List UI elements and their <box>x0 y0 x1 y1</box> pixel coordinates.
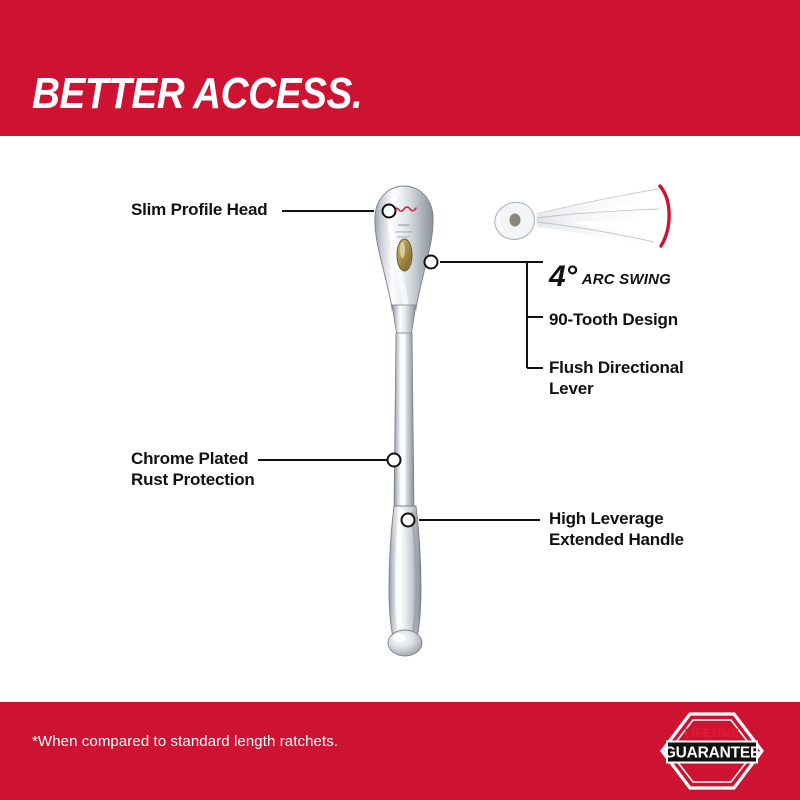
ratchet-neck <box>392 305 416 336</box>
arc-swing-degrees: 4° <box>549 260 577 293</box>
callout-label-high-leverage: High Leverage Extended Handle <box>549 508 684 550</box>
ratchet-tool-illustration <box>375 186 433 656</box>
handle-end-cap <box>388 630 422 656</box>
handle-end-cap-highlight <box>393 634 405 643</box>
callout-label-flush-lever: Flush Directional Lever <box>549 357 684 399</box>
arc-swing-red-arc <box>660 186 669 246</box>
callout-label-arc-swing: 4°ARC SWING <box>549 245 671 290</box>
endpoint-dot-head-cluster <box>425 256 438 269</box>
arc-swing-motion-graphic <box>495 186 669 247</box>
endpoint-dot-high-leverage <box>402 514 415 527</box>
arc-swing-suffix: ARC SWING <box>582 271 671 288</box>
callout-label-slim-profile-head: Slim Profile Head <box>131 199 267 220</box>
ratchet-shaft-highlight <box>402 335 406 507</box>
infographic-page: BETTER ACCESS. MORE LEVERAGE.* *When com… <box>0 0 800 800</box>
directional-lever-highlight <box>400 242 405 258</box>
endpoint-dot-chrome-plated <box>388 454 401 467</box>
endpoint-dot-slim-profile-head <box>383 205 396 218</box>
callout-label-chrome-plated: Chrome Plated Rust Protection <box>131 448 255 490</box>
product-artwork-layer <box>0 0 800 800</box>
callout-label-tooth-design: 90-Tooth Design <box>549 309 678 330</box>
arc-swing-head <box>495 202 535 239</box>
